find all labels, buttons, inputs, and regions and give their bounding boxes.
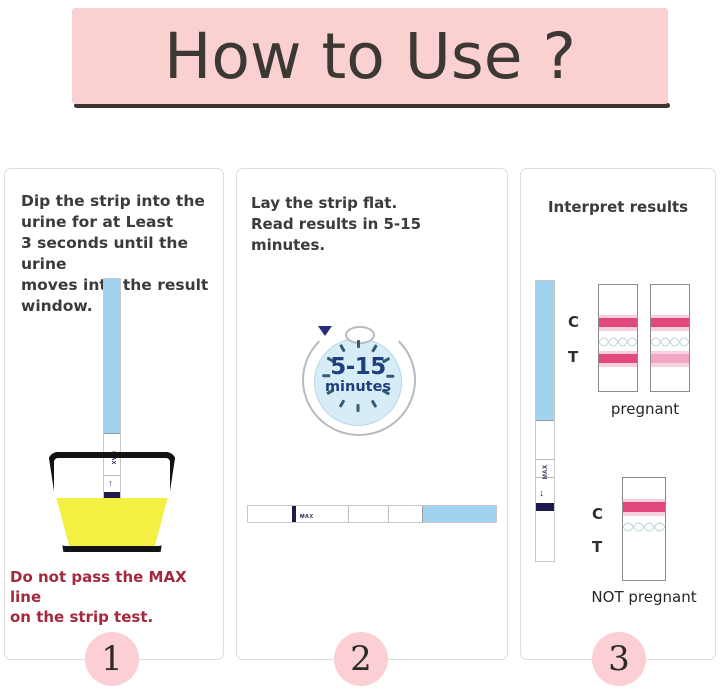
result-window-pregnant-faint (650, 284, 690, 392)
timer-unit-text: minutes (314, 379, 402, 395)
control-label-positive: C (568, 313, 579, 331)
timer-arrow-icon (318, 326, 332, 336)
step-number-3: 3 (592, 632, 646, 686)
strip-divider (388, 506, 389, 522)
step-number-2: 2 (334, 632, 388, 686)
strip-handle-blue (422, 506, 496, 522)
test-label-negative: T (592, 538, 602, 556)
test-label-positive: T (568, 348, 578, 366)
timer-tick (357, 340, 360, 348)
control-band (599, 318, 637, 327)
timer-label: 5-15 minutes (314, 356, 402, 395)
max-arrow-icon: ↓ (539, 489, 544, 499)
result-window-pregnant-strong (598, 284, 638, 392)
negative-result-caption: NOT pregnant (570, 588, 718, 606)
step-number-1: 1 (85, 632, 139, 686)
timer-range-text: 5-15 (314, 356, 402, 379)
test-band-faint (651, 354, 689, 363)
test-strip-vertical-3: MAX ↓ (535, 280, 555, 562)
strip-handle-blue (536, 281, 554, 421)
wave-pattern-icon (651, 331, 689, 353)
wave-pattern-icon (623, 516, 665, 538)
strip-handle-blue (104, 279, 120, 434)
timer-clock-icon: 5-15 minutes (302, 320, 416, 432)
urine-cup (48, 452, 176, 552)
max-label-text: MAX (543, 459, 549, 485)
test-band (599, 354, 637, 363)
cup-outline (48, 452, 176, 552)
step-2-instruction: Lay the strip flat. Read results in 5-15… (251, 193, 497, 256)
max-line-band (536, 503, 554, 511)
step-3-instruction: Interpret results (521, 197, 715, 218)
header-banner: How to Use ? (72, 8, 668, 104)
max-line-band (292, 506, 296, 522)
timer-knob (345, 326, 375, 344)
page-title: How to Use ? (72, 8, 668, 104)
control-band (623, 502, 665, 512)
control-band (651, 318, 689, 327)
infographic-root: How to Use ? Dip the strip into the urin… (0, 0, 720, 693)
max-line-warning: Do not pass the MAX line on the strip te… (10, 567, 222, 627)
wave-pattern-icon (599, 331, 637, 353)
control-label-negative: C (592, 505, 603, 523)
result-window-not-pregnant (622, 477, 666, 581)
timer-tick (357, 404, 360, 412)
positive-result-caption: pregnant (590, 400, 700, 418)
strip-divider (348, 506, 349, 522)
test-strip-horizontal: MAX ← (247, 505, 497, 523)
max-arrow-icon: ← (298, 510, 307, 519)
